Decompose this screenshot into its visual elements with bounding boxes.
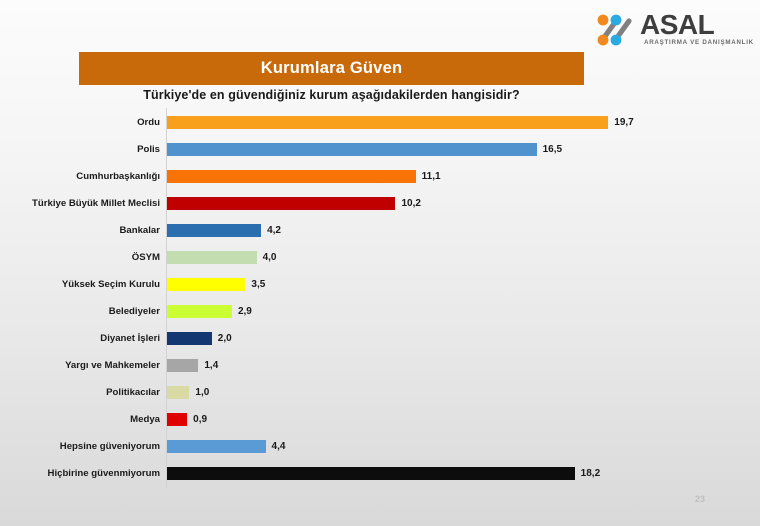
- category-label: Medya: [0, 414, 160, 425]
- chart-row: Hiçbirine güvenmiyorum18,2: [0, 460, 760, 486]
- bar-value-label: 4,0: [263, 252, 277, 263]
- category-label: Ordu: [0, 117, 160, 128]
- bar-value-label: 18,2: [581, 468, 600, 479]
- bar-group: 1,4: [167, 359, 218, 372]
- bar-group: 2,9: [167, 305, 252, 318]
- asal-logo-mark-icon: [596, 13, 638, 47]
- asal-logo: ASAL ARAŞTIRMA VE DANIŞMANLIK: [596, 10, 746, 54]
- bar: [167, 143, 537, 156]
- chart-row: Diyanet İşleri2,0: [0, 325, 760, 351]
- bar-value-label: 10,2: [401, 198, 420, 209]
- bar-group: 11,1: [167, 170, 441, 183]
- chart-row: Yargı ve Mahkemeler1,4: [0, 352, 760, 378]
- bar-group: 3,5: [167, 278, 265, 291]
- bar-value-label: 4,2: [267, 225, 281, 236]
- bar-value-label: 3,5: [251, 279, 265, 290]
- page-number: 23: [695, 494, 705, 504]
- category-label: Hepsine güveniyorum: [0, 441, 160, 452]
- bar-group: 4,0: [167, 251, 277, 264]
- bar-value-label: 1,4: [204, 360, 218, 371]
- bar-group: 18,2: [167, 467, 600, 480]
- slide: ASAL ARAŞTIRMA VE DANIŞMANLIK Kurumlara …: [0, 0, 760, 526]
- bar: [167, 467, 575, 480]
- category-label: Polis: [0, 144, 160, 155]
- category-label: Politikacılar: [0, 387, 160, 398]
- bar: [167, 278, 245, 291]
- chart-row: ÖSYM4,0: [0, 244, 760, 270]
- bar-group: 4,4: [167, 440, 285, 453]
- bar-value-label: 1,0: [195, 387, 209, 398]
- chart-row: Türkiye Büyük Millet Meclisi10,2: [0, 190, 760, 216]
- page-title: Kurumlara Güven: [261, 59, 402, 78]
- chart-row: Polis16,5: [0, 136, 760, 162]
- bar: [167, 305, 232, 318]
- asal-logo-wordmark: ASAL: [640, 10, 714, 40]
- category-label: Türkiye Büyük Millet Meclisi: [0, 198, 160, 209]
- bar: [167, 116, 608, 129]
- chart-row: Yüksek Seçim Kurulu3,5: [0, 271, 760, 297]
- horizontal-bar-chart: Ordu19,7Polis16,5Cumhurbaşkanlığı11,1Tür…: [0, 108, 760, 488]
- bar-value-label: 4,4: [272, 441, 286, 452]
- bar-value-label: 16,5: [543, 144, 562, 155]
- bar: [167, 224, 261, 237]
- chart-row: Medya0,9: [0, 406, 760, 432]
- category-label: Cumhurbaşkanlığı: [0, 171, 160, 182]
- category-label: Yüksek Seçim Kurulu: [0, 279, 160, 290]
- chart-title-bar: Kurumlara Güven: [79, 52, 584, 85]
- bar: [167, 332, 212, 345]
- chart-row: Hepsine güveniyorum4,4: [0, 433, 760, 459]
- bar-value-label: 19,7: [614, 117, 633, 128]
- category-label: Bankalar: [0, 225, 160, 236]
- bar: [167, 440, 266, 453]
- chart-row: Cumhurbaşkanlığı11,1: [0, 163, 760, 189]
- chart-row: Politikacılar1,0: [0, 379, 760, 405]
- bar: [167, 170, 416, 183]
- bar-group: 2,0: [167, 332, 232, 345]
- category-label: Hiçbirine güvenmiyorum: [0, 468, 160, 479]
- bar: [167, 413, 187, 426]
- bar: [167, 359, 198, 372]
- category-label: Diyanet İşleri: [0, 333, 160, 344]
- chart-row: Ordu19,7: [0, 109, 760, 135]
- bar-group: 4,2: [167, 224, 281, 237]
- chart-subtitle: Türkiye'de en güvendiğiniz kurum aşağıda…: [79, 88, 584, 102]
- bar: [167, 251, 257, 264]
- bar-value-label: 11,1: [422, 171, 441, 182]
- bar-group: 10,2: [167, 197, 421, 210]
- category-label: Yargı ve Mahkemeler: [0, 360, 160, 371]
- bar-group: 0,9: [167, 413, 207, 426]
- bar: [167, 197, 395, 210]
- bar-value-label: 0,9: [193, 414, 207, 425]
- chart-row: Belediyeler2,9: [0, 298, 760, 324]
- category-label: ÖSYM: [0, 252, 160, 263]
- category-label: Belediyeler: [0, 306, 160, 317]
- bar: [167, 386, 189, 399]
- bar-value-label: 2,0: [218, 333, 232, 344]
- chart-row: Bankalar4,2: [0, 217, 760, 243]
- bar-group: 1,0: [167, 386, 209, 399]
- bar-group: 16,5: [167, 143, 562, 156]
- asal-logo-tagline: ARAŞTIRMA VE DANIŞMANLIK: [644, 39, 754, 46]
- bar-value-label: 2,9: [238, 306, 252, 317]
- bar-group: 19,7: [167, 116, 634, 129]
